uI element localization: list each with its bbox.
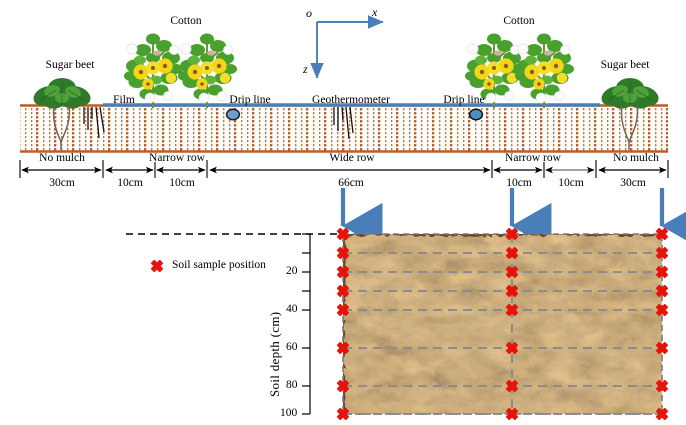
depth-axis (302, 234, 310, 414)
sugar-beet-plant-left (28, 74, 96, 152)
cotton-left-label: Cotton (170, 16, 201, 28)
soil-band-group (20, 106, 668, 152)
dim-30cm-right-label: 30cm (620, 178, 646, 190)
dim-66cm-label: 66cm (338, 178, 364, 190)
connector-arrows (343, 188, 662, 226)
film-label: Film (113, 95, 135, 107)
depth-tick-80: 80 (286, 380, 298, 392)
zone-narrow-row-left-label: Narrow row (149, 153, 205, 165)
drip-line-left-label: Drip line (229, 95, 270, 107)
drip-emitter-right (470, 109, 483, 119)
dim-10cm-b-label: 10cm (169, 178, 195, 190)
diagram-canvas (0, 0, 686, 425)
axis-origin-label: o (306, 7, 312, 19)
legend-soil-sample-marker (151, 260, 164, 273)
drip-line-right-label: Drip line (443, 95, 484, 107)
axis-x-label: x (372, 6, 377, 18)
dim-10cm-a-label: 10cm (117, 178, 143, 190)
drip-emitter-left (227, 109, 240, 119)
dim-10cm-d-label: 10cm (558, 178, 584, 190)
soil-profile-block (343, 234, 662, 414)
zone-narrow-row-right-label: Narrow row (505, 153, 561, 165)
sugar-beet-plant-right (596, 74, 664, 152)
depth-tick-60: 60 (286, 342, 298, 354)
geothermometer-label: Geothermometer (312, 95, 390, 107)
sugar-beet-right-label: Sugar beet (601, 60, 650, 72)
sugar-beet-left-label: Sugar beet (46, 60, 95, 72)
legend-label: Soil sample position (172, 260, 266, 272)
axis-z-label: z (303, 63, 308, 75)
zone-no-mulch-left-label: No mulch (39, 153, 85, 165)
dim-30cm-left-label: 30cm (49, 178, 75, 190)
depth-tick-100: 100 (280, 408, 297, 420)
depth-tick-20: 20 (286, 266, 298, 278)
field-layout-figure: o x z Soil depth (cm) Soil sample positi… (0, 0, 686, 425)
zone-no-mulch-right-label: No mulch (613, 153, 659, 165)
depth-tick-40: 40 (286, 304, 298, 316)
zone-wide-row-label: Wide row (329, 153, 374, 165)
cotton-right-label: Cotton (503, 16, 534, 28)
depth-axis-title: Soil depth (cm) (267, 312, 283, 397)
legend-sample-marker (151, 260, 164, 273)
coordinate-axes (317, 22, 383, 78)
dim-10cm-c-label: 10cm (506, 178, 532, 190)
cotton-plant-4 (510, 22, 578, 108)
